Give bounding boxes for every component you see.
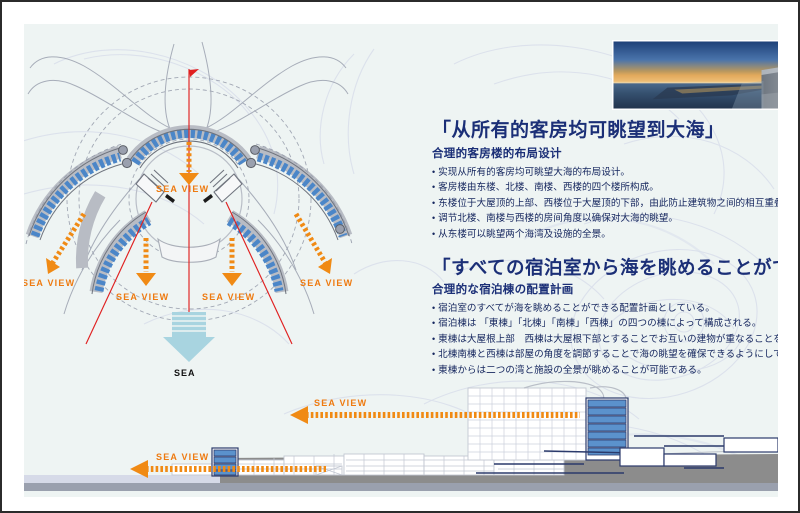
- text-column: 「从所有的客房均可眺望到大海」 合理的客房楼的布局设计 实现从所有的客房均可眺望…: [432, 120, 778, 378]
- elevation-sea-view-label: SEA VIEW: [314, 398, 367, 408]
- list-item: 调节北楼、南楼与西楼的房间角度以确保对大海的眺望。: [432, 211, 778, 227]
- japanese-heading: 「すべての宿泊室から海を眺めることができる」: [432, 257, 778, 278]
- sea-direction-arrow: [163, 312, 215, 362]
- list-item: 宿泊室のすべてが海を眺めることができる配置計画としている。: [432, 301, 778, 317]
- list-item: 宿泊棟は 「東棟」「北棟」「南棟」「西棟」の四つの棟によって構成される。: [432, 316, 778, 332]
- list-item: 客房楼由东楼、北楼、南楼、西楼的四个楼所构成。: [432, 180, 778, 196]
- list-item: 东楼位于大屋顶的上部、西楼位于大屋顶的下部，由此防止建筑物之间的相互重叠。: [432, 196, 778, 212]
- japanese-text-block: 「すべての宿泊室から海を眺めることができる」 合理的な宿泊棟の配置計画 宿泊室の…: [432, 257, 778, 379]
- elevation-sea-view-label: SEA VIEW: [156, 452, 209, 462]
- sunset-sea-terrace-photo: [612, 40, 778, 110]
- plan-sea-view-label: SEA VIEW: [116, 292, 169, 302]
- chinese-heading: 「从所有的客房均可眺望到大海」: [432, 120, 778, 142]
- list-item: 从东楼可以眺望两个海湾及设施的全景。: [432, 227, 778, 243]
- list-item: 東棟は大屋根上部 西棟は大屋根下部とすることでお互いの建物が重なることを防いでい…: [432, 332, 778, 348]
- slide-white-margin: SEA VIEW SEA VIEW SEA VIEW SEA VIEW SEA …: [10, 10, 792, 505]
- list-item: 東棟からは二つの湾と施設の全景が眺めることが可能である。: [432, 363, 778, 379]
- slide-content-area: SEA VIEW SEA VIEW SEA VIEW SEA VIEW SEA …: [24, 24, 778, 497]
- plan-sea-view-label: SEA VIEW: [300, 278, 353, 288]
- presentation-slide: SEA VIEW SEA VIEW SEA VIEW SEA VIEW SEA …: [0, 0, 800, 513]
- radial-site-plan-diagram: SEA VIEW SEA VIEW SEA VIEW SEA VIEW SEA …: [24, 24, 424, 384]
- chinese-bullet-list: 实现从所有的客房均可眺望大海的布局设计。 客房楼由东楼、北楼、南楼、西楼的四个楼…: [432, 165, 778, 243]
- plan-sea-view-label: SEA VIEW: [202, 292, 255, 302]
- plan-sea-view-label: SEA VIEW: [156, 184, 209, 194]
- building-section-elevation: SEA VIEW SEA VIEW: [24, 376, 778, 497]
- japanese-bullet-list: 宿泊室のすべてが海を眺めることができる配置計画としている。 宿泊棟は 「東棟」「…: [432, 301, 778, 379]
- plan-sea-view-label: SEA VIEW: [24, 278, 75, 288]
- chinese-subheading: 合理的客房楼的布局设计: [432, 145, 778, 161]
- chinese-text-block: 「从所有的客房均可眺望到大海」 合理的客房楼的布局设计 实现从所有的客房均可眺望…: [432, 120, 778, 243]
- list-item: 北棟南棟と西棟は部屋の角度を調節することで海の眺望を確保できるようにしている。: [432, 347, 778, 363]
- list-item: 实现从所有的客房均可眺望大海的布局设计。: [432, 165, 778, 181]
- japanese-subheading: 合理的な宿泊棟の配置計画: [432, 281, 778, 297]
